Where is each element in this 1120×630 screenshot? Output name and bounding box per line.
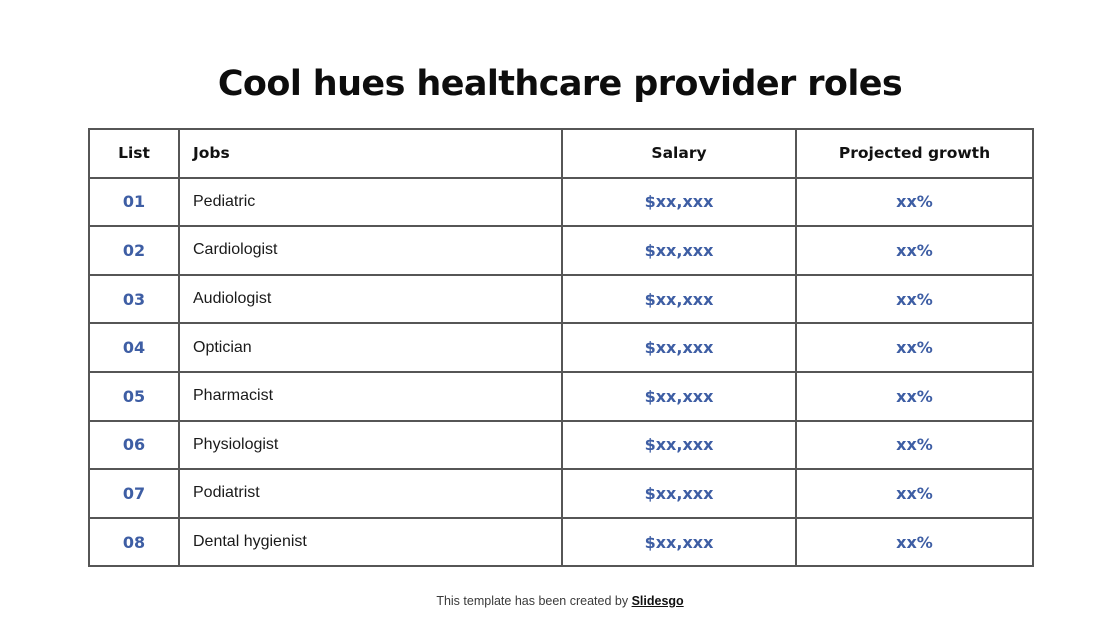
cell-salary: $xx,xxx (562, 226, 796, 275)
cell-job-name: Pediatric (179, 178, 562, 227)
cell-job-name: Audiologist (179, 275, 562, 324)
cell-projected-growth: xx% (796, 421, 1033, 470)
table-row: 03Audiologist$xx,xxxxx% (89, 275, 1033, 324)
column-header-jobs: Jobs (179, 129, 562, 178)
cell-salary: $xx,xxx (562, 275, 796, 324)
cell-list-number: 04 (89, 323, 179, 372)
cell-salary: $xx,xxx (562, 178, 796, 227)
cell-projected-growth: xx% (796, 275, 1033, 324)
cell-job-name: Cardiologist (179, 226, 562, 275)
cell-salary: $xx,xxx (562, 372, 796, 421)
healthcare-roles-table: List Jobs Salary Projected growth 01Pedi… (88, 128, 1034, 567)
cell-salary: $xx,xxx (562, 518, 796, 567)
cell-job-name: Podiatrist (179, 469, 562, 518)
page-title: Cool hues healthcare provider roles (0, 64, 1120, 104)
column-header-list: List (89, 129, 179, 178)
cell-job-name: Dental hygienist (179, 518, 562, 567)
cell-projected-growth: xx% (796, 178, 1033, 227)
cell-list-number: 08 (89, 518, 179, 567)
table-row: 06Physiologist$xx,xxxxx% (89, 421, 1033, 470)
cell-list-number: 01 (89, 178, 179, 227)
cell-list-number: 05 (89, 372, 179, 421)
footer-credit: This template has been created by Slides… (0, 594, 1120, 608)
table-row: 01Pediatric$xx,xxxxx% (89, 178, 1033, 227)
cell-projected-growth: xx% (796, 226, 1033, 275)
slide-canvas: Cool hues healthcare provider roles List… (0, 0, 1120, 630)
cell-salary: $xx,xxx (562, 421, 796, 470)
cell-job-name: Optician (179, 323, 562, 372)
column-header-salary: Salary (562, 129, 796, 178)
table-row: 08Dental hygienist$xx,xxxxx% (89, 518, 1033, 567)
table-row: 07Podiatrist$xx,xxxxx% (89, 469, 1033, 518)
cell-projected-growth: xx% (796, 518, 1033, 567)
column-header-growth: Projected growth (796, 129, 1033, 178)
footer-text: This template has been created by (436, 594, 628, 608)
table-body: 01Pediatric$xx,xxxxx%02Cardiologist$xx,x… (89, 178, 1033, 567)
table-header-row: List Jobs Salary Projected growth (89, 129, 1033, 178)
table-row: 02Cardiologist$xx,xxxxx% (89, 226, 1033, 275)
cell-job-name: Pharmacist (179, 372, 562, 421)
table-row: 04Optician$xx,xxxxx% (89, 323, 1033, 372)
slidesgo-link[interactable]: Slidesgo (632, 594, 684, 608)
table-header: List Jobs Salary Projected growth (89, 129, 1033, 178)
cell-salary: $xx,xxx (562, 323, 796, 372)
cell-job-name: Physiologist (179, 421, 562, 470)
cell-projected-growth: xx% (796, 469, 1033, 518)
cell-projected-growth: xx% (796, 372, 1033, 421)
cell-list-number: 06 (89, 421, 179, 470)
cell-list-number: 07 (89, 469, 179, 518)
cell-salary: $xx,xxx (562, 469, 796, 518)
cell-list-number: 03 (89, 275, 179, 324)
cell-list-number: 02 (89, 226, 179, 275)
table-row: 05Pharmacist$xx,xxxxx% (89, 372, 1033, 421)
cell-projected-growth: xx% (796, 323, 1033, 372)
